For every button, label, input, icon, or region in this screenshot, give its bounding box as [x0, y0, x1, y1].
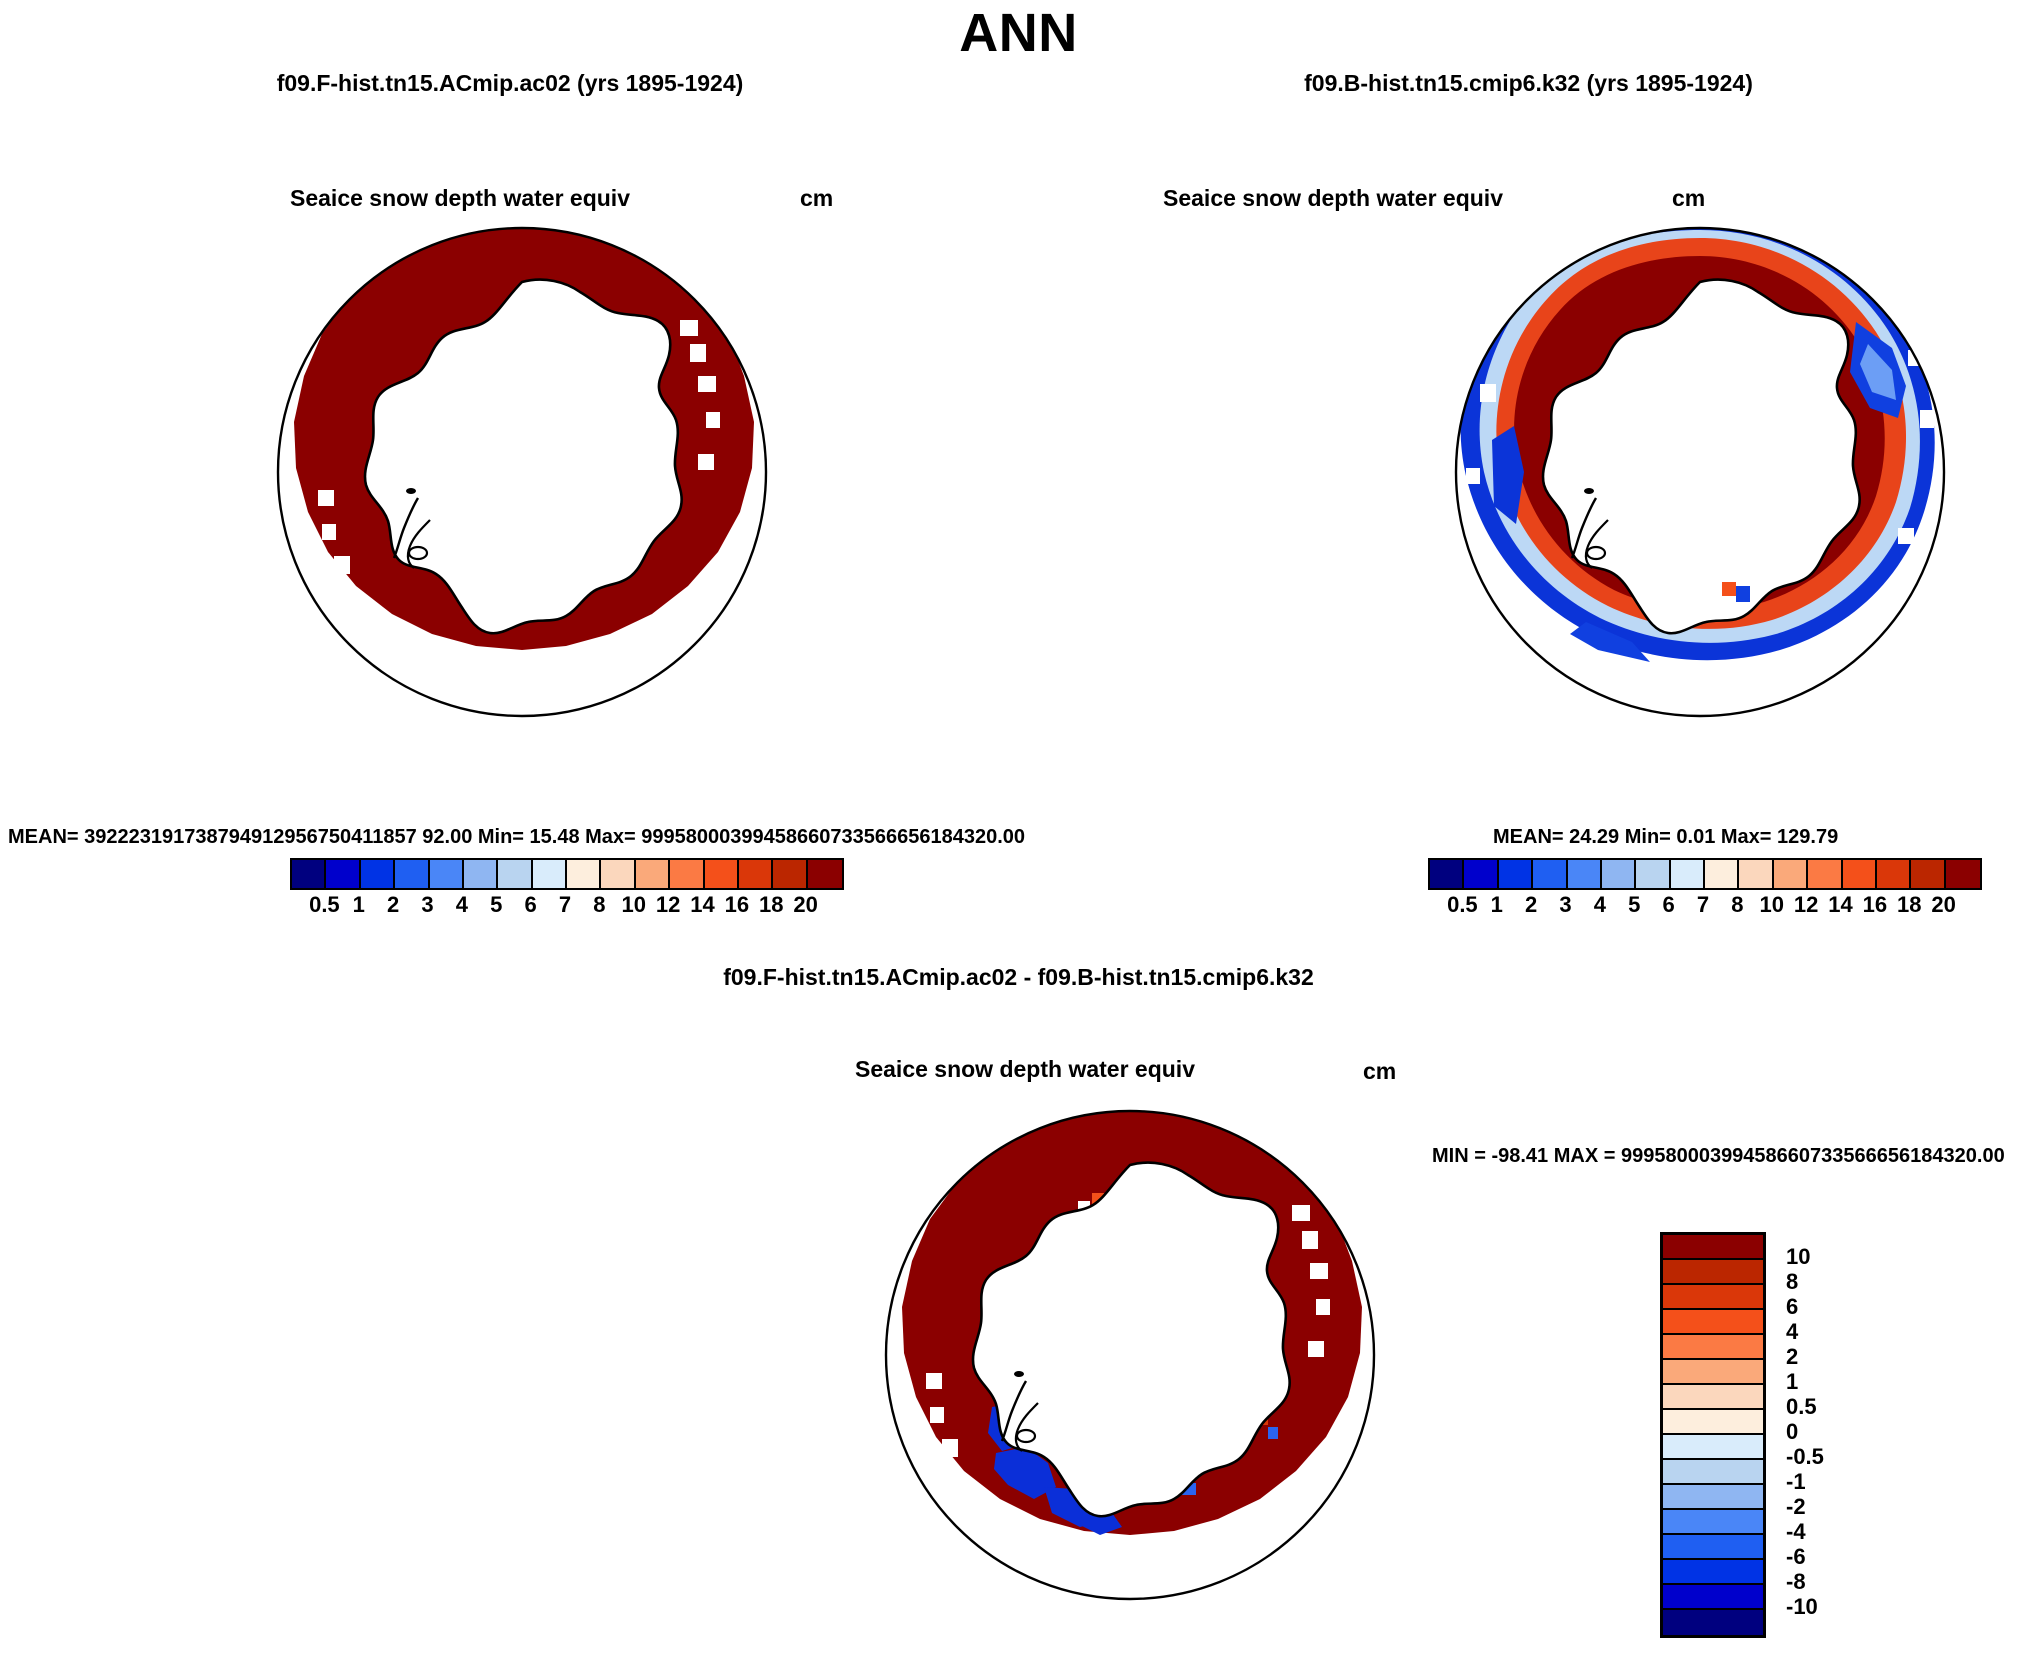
- map-plot-top-right: [1400, 172, 2000, 772]
- colorbar-tick-label: 0.5: [1786, 1394, 1866, 1420]
- colorbar-tick-label: 20: [1931, 892, 1955, 918]
- colorbar-cell: [1464, 860, 1498, 888]
- colorbar-tick-label: 20: [793, 892, 817, 918]
- colorbar-tick-label: 12: [656, 892, 680, 918]
- colorbar-cell: [1774, 860, 1808, 888]
- colorbar-cell: [1663, 1260, 1763, 1285]
- colorbar-cell: [533, 860, 567, 888]
- colorbar-cell: [1430, 860, 1464, 888]
- colorbar-cell: [1663, 1535, 1763, 1560]
- colorbar-tick-label: 4: [1786, 1319, 1866, 1345]
- colorbar-cell: [567, 860, 601, 888]
- colorbar-difference: [1660, 1232, 1766, 1638]
- colorbar-cell: [808, 860, 842, 888]
- panel-title-difference: f09.F-hist.tn15.ACmip.ac02 - f09.B-hist.…: [0, 964, 2037, 991]
- map-plot-difference: [830, 1055, 1430, 1655]
- colorbar-cell: [1663, 1485, 1763, 1510]
- polar-map-svg-top-right: [1400, 172, 2000, 772]
- colorbar-cell: [1663, 1560, 1763, 1585]
- colorbar-tick-label: 10: [1760, 892, 1784, 918]
- polar-map-svg-difference: [830, 1055, 1430, 1655]
- colorbar-cell: [1663, 1360, 1763, 1385]
- colorbar-cell: [1663, 1335, 1763, 1360]
- sea-ice-field-top-left: [278, 218, 766, 716]
- figure-main-title: ANN: [0, 2, 2037, 64]
- colorbar-tick-label: 6: [1786, 1294, 1866, 1320]
- colorbar-cell: [1663, 1410, 1763, 1435]
- colorbar-cell: [1663, 1285, 1763, 1310]
- colorbar-tick-label: 7: [1697, 892, 1709, 918]
- colorbar-tick-label: 2: [387, 892, 399, 918]
- colorbar-tick-label: 5: [490, 892, 502, 918]
- colorbar-cell: [1499, 860, 1533, 888]
- colorbar-tick-label: 10: [1786, 1244, 1866, 1270]
- colorbar-tick-label: 18: [1897, 892, 1921, 918]
- colorbar-tick-label: 18: [759, 892, 783, 918]
- colorbar-cell: [292, 860, 326, 888]
- colorbar-cell: [1663, 1610, 1763, 1635]
- colorbar-cell: [326, 860, 360, 888]
- colorbar-tick-label: 2: [1525, 892, 1537, 918]
- colorbar-cell: [1671, 860, 1705, 888]
- colorbar-tick-label: 3: [1559, 892, 1571, 918]
- colorbar-cell: [1663, 1310, 1763, 1335]
- colorbar-cell: [1602, 860, 1636, 888]
- panel-stats-top-right: MEAN= 24.29 Min= 0.01 Max= 129.79: [1493, 826, 1838, 849]
- colorbar-cell: [498, 860, 532, 888]
- colorbar-tick-label: 8: [1731, 892, 1743, 918]
- panel-stats-difference: MIN = -98.41 MAX = 999580003994586607335…: [1432, 1145, 2005, 1168]
- colorbar-tick-label: 1: [353, 892, 365, 918]
- colorbar-tick-label: 6: [1663, 892, 1675, 918]
- colorbar-cell: [1946, 860, 1980, 888]
- colorbar-cell: [361, 860, 395, 888]
- sea-ice-field-top-right: [1456, 216, 1944, 716]
- colorbar-tick-label: 6: [525, 892, 537, 918]
- colorbar-cell: [1663, 1385, 1763, 1410]
- colorbar-cell: [1877, 860, 1911, 888]
- colorbar-difference-labels: 10864210.50-0.5-1-2-4-6-8-10: [1786, 1232, 1906, 1632]
- colorbar-tick-label: 5: [1628, 892, 1640, 918]
- colorbar-tick-label: -8: [1786, 1569, 1866, 1595]
- colorbar-tick-label: -4: [1786, 1519, 1866, 1545]
- panel-title-top-left: f09.F-hist.tn15.ACmip.ac02 (yrs 1895-192…: [0, 70, 1020, 97]
- colorbar-cell: [1739, 860, 1773, 888]
- colorbar-cell: [1663, 1510, 1763, 1535]
- colorbar-cell: [1663, 1235, 1763, 1260]
- colorbar-tick-label: 2: [1786, 1344, 1866, 1370]
- colorbar-cell: [705, 860, 739, 888]
- colorbar-cell: [1911, 860, 1945, 888]
- colorbar-cell: [1843, 860, 1877, 888]
- colorbar-tick-label: 1: [1786, 1369, 1866, 1395]
- colorbar-cell: [1705, 860, 1739, 888]
- colorbar-tick-label: -10: [1786, 1594, 1866, 1620]
- colorbar-labels-top-left: 0.512345678101214161820: [290, 892, 840, 922]
- colorbar-tick-label: 7: [559, 892, 571, 918]
- colorbar-cell: [1533, 860, 1567, 888]
- colorbar-cell: [430, 860, 464, 888]
- colorbar-tick-label: -1: [1786, 1469, 1866, 1495]
- colorbar-tick-label: 0.5: [309, 892, 340, 918]
- colorbar-tick-label: 4: [1594, 892, 1606, 918]
- colorbar-cell: [636, 860, 670, 888]
- colorbar-tick-label: 0: [1786, 1419, 1866, 1445]
- colorbar-tick-label: 8: [1786, 1269, 1866, 1295]
- panel-title-top-right: f09.B-hist.tn15.cmip6.k32 (yrs 1895-1924…: [1020, 70, 2037, 97]
- colorbar-tick-label: 1: [1491, 892, 1503, 918]
- colorbar-tick-label: 12: [1794, 892, 1818, 918]
- colorbar-labels-top-right: 0.512345678101214161820: [1428, 892, 1978, 922]
- colorbar-cell: [670, 860, 704, 888]
- colorbar-cell: [1636, 860, 1670, 888]
- colorbar-cell: [601, 860, 635, 888]
- colorbar-tick-label: 16: [725, 892, 749, 918]
- polar-map-svg-top-left: [222, 172, 822, 772]
- colorbar-cell: [739, 860, 773, 888]
- colorbar-tick-label: -0.5: [1786, 1444, 1866, 1470]
- colorbar-tick-label: -2: [1786, 1494, 1866, 1520]
- colorbar-cell: [773, 860, 807, 888]
- colorbar-absolute-top-left: [290, 858, 844, 890]
- colorbar-cell: [464, 860, 498, 888]
- panel-stats-top-left: MEAN= 392223191738794912956750411857 92.…: [8, 826, 1025, 849]
- map-plot-top-left: [222, 172, 822, 772]
- colorbar-tick-label: 0.5: [1447, 892, 1478, 918]
- colorbar-tick-label: 8: [593, 892, 605, 918]
- colorbar-tick-label: 10: [622, 892, 646, 918]
- colorbar-cell: [1568, 860, 1602, 888]
- colorbar-cell: [395, 860, 429, 888]
- colorbar-tick-label: 3: [421, 892, 433, 918]
- colorbar-tick-label: 16: [1863, 892, 1887, 918]
- colorbar-absolute-top-right: [1428, 858, 1982, 890]
- colorbar-tick-label: 14: [690, 892, 714, 918]
- colorbar-tick-label: 14: [1828, 892, 1852, 918]
- colorbar-cell: [1663, 1460, 1763, 1485]
- difference-field: [886, 1103, 1374, 1599]
- colorbar-tick-label: -6: [1786, 1544, 1866, 1570]
- colorbar-tick-label: 4: [456, 892, 468, 918]
- colorbar-cell: [1808, 860, 1842, 888]
- colorbar-cell: [1663, 1585, 1763, 1610]
- colorbar-cell: [1663, 1435, 1763, 1460]
